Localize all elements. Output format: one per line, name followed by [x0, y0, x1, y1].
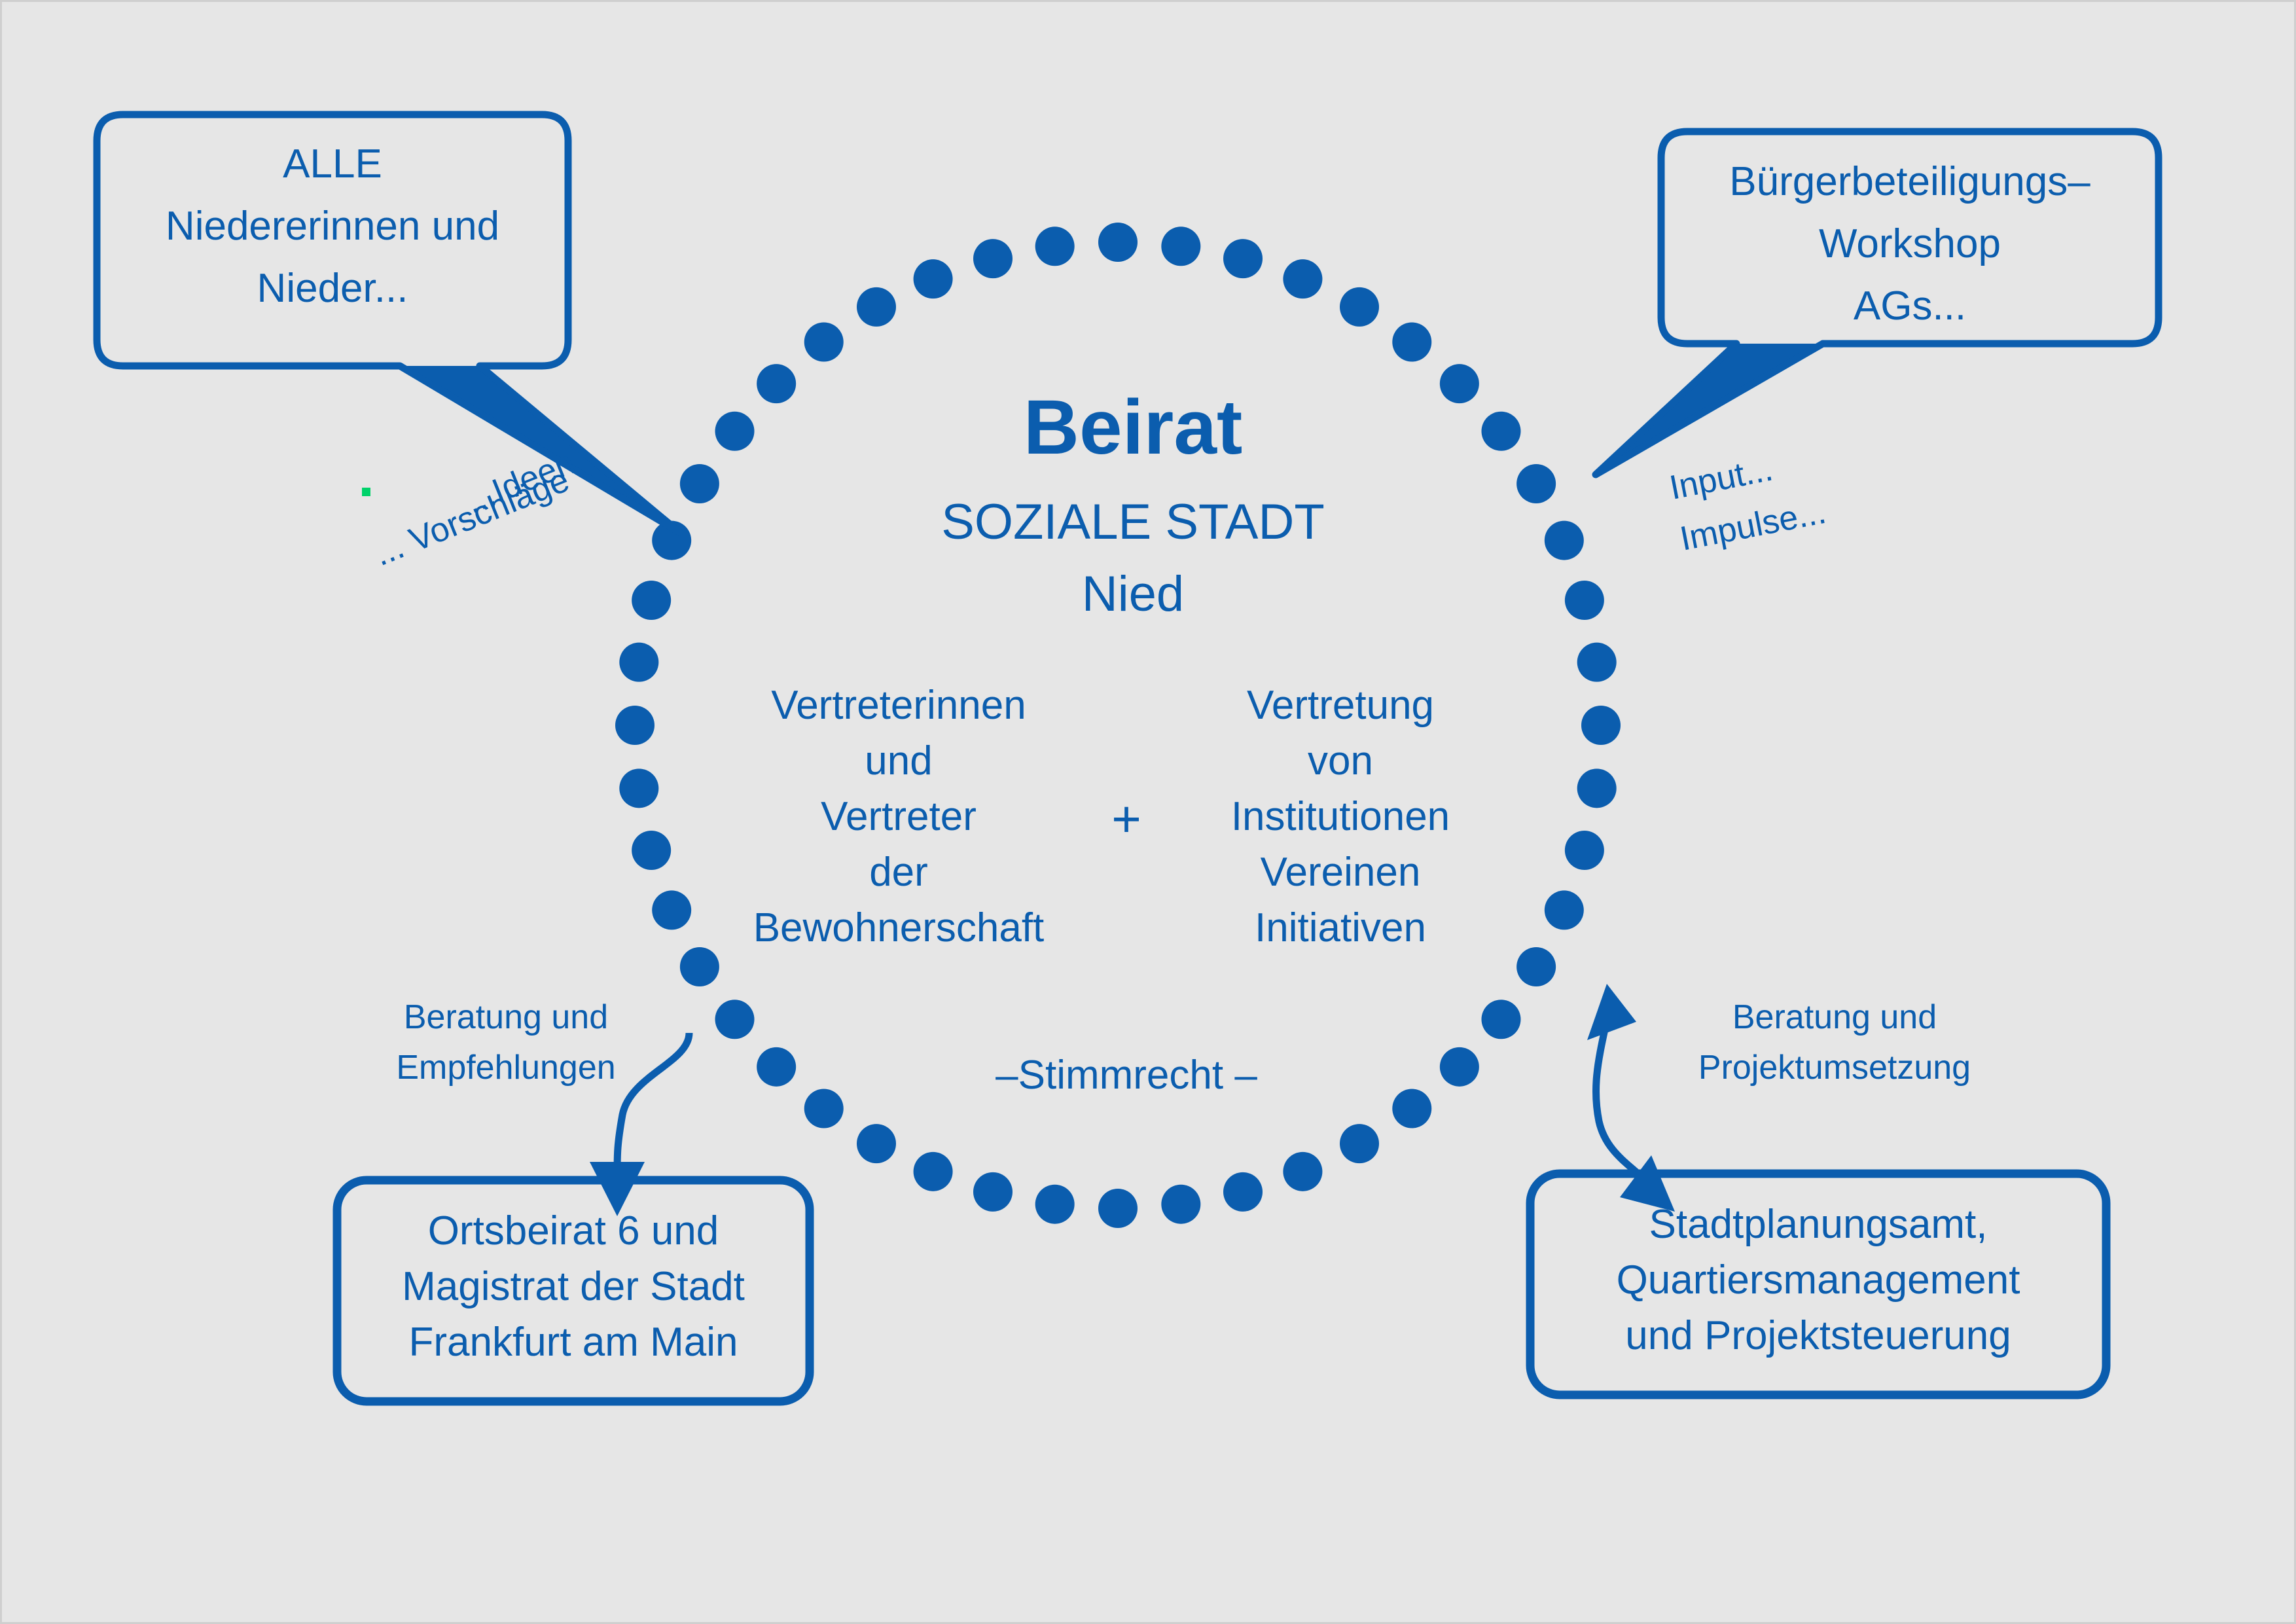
- ring-dot: [973, 239, 1013, 278]
- target-bottom-right-line-0: Stadtplanungsamt,: [1649, 1202, 1987, 1247]
- ring-dot: [1098, 1189, 1138, 1228]
- ring-dot: [1481, 412, 1520, 451]
- ring-dot: [1223, 239, 1263, 278]
- ring-dot: [1577, 643, 1617, 682]
- ring-dot: [1545, 890, 1584, 929]
- ring-dot: [1035, 1185, 1075, 1224]
- right-column-group: Vertretung von Institutionen Vereinen In…: [1231, 683, 1450, 950]
- ring-dot: [619, 768, 658, 808]
- ring-dot: [1098, 223, 1138, 262]
- ring-dot: [857, 1124, 896, 1163]
- ring-dot: [1392, 1089, 1431, 1128]
- right-inflow-annotation: Input... Impulse...: [1666, 450, 1829, 558]
- bubble-top-left[interactable]: ALLE Niedererinnen und Nieder...: [97, 115, 679, 532]
- ring-dot: [1440, 1047, 1479, 1087]
- ring-dot: [1565, 581, 1604, 620]
- ring-dot: [1392, 323, 1431, 362]
- ring-dot: [1283, 259, 1322, 298]
- ring-dot: [757, 364, 796, 403]
- right-outflow-arrow-head-up: [1587, 984, 1636, 1040]
- ring-dot: [1481, 1000, 1520, 1039]
- target-bottom-right-line-2: und Projektsteuerung: [1625, 1313, 2011, 1358]
- ring-dot: [1516, 947, 1556, 986]
- right-column-line-4: Initiativen: [1255, 905, 1426, 950]
- ring-dot: [1577, 768, 1617, 808]
- ring-dot: [1440, 364, 1479, 403]
- ring-dot: [1283, 1152, 1322, 1191]
- target-bottom-left-line-1: Magistrat der Stadt: [402, 1264, 745, 1309]
- left-column-line-0: Vertreterinnen: [771, 683, 1026, 728]
- ring-dot: [857, 287, 896, 327]
- right-column-line-0: Vertretung: [1247, 683, 1434, 728]
- left-column-line-3: der: [869, 850, 928, 895]
- bubble-top-left-line-2: Nieder...: [257, 266, 408, 311]
- bubble-top-right-line-1: Workshop: [1819, 221, 2001, 266]
- right-inflow-line-0: Input...: [1666, 450, 1776, 507]
- ring-dot: [1340, 1124, 1379, 1163]
- left-column-line-4: Bewohnerschaft: [753, 905, 1045, 950]
- ring-dot: [1565, 831, 1604, 870]
- ring-dot: [1223, 1172, 1263, 1212]
- ring-dot: [757, 1047, 796, 1087]
- green-marker-dot: [362, 488, 370, 496]
- ring-dot: [1581, 706, 1621, 745]
- ring-dot: [804, 1089, 844, 1128]
- ring-dot: [1035, 226, 1075, 266]
- target-bottom-left-line-0: Ortsbeirat 6 und: [428, 1208, 719, 1254]
- center-title: Beirat: [1024, 384, 1242, 471]
- left-column-line-2: Vertreter: [821, 794, 977, 839]
- ring-dot: [1545, 521, 1584, 560]
- ring-dot: [1516, 464, 1556, 503]
- center-subtitle-line2: Nied: [1082, 566, 1184, 622]
- ring-dot: [652, 890, 691, 929]
- left-column-group: Vertreterinnen und Vertreter der Bewohne…: [753, 683, 1045, 950]
- target-bottom-right-line-1: Quartiersmanagement: [1617, 1257, 2020, 1303]
- left-outflow-line-0: Beratung und: [404, 998, 608, 1036]
- target-bottom-left[interactable]: Ortsbeirat 6 und Magistrat der Stadt Fra…: [337, 1180, 810, 1401]
- right-outflow-line-0: Beratung und: [1732, 998, 1937, 1036]
- ring-dot: [715, 1000, 755, 1039]
- right-outflow-line-1: Projektumsetzung: [1698, 1049, 1971, 1087]
- ring-dot: [615, 706, 655, 745]
- left-inflow-line-1: ... Vorschläge: [369, 461, 575, 573]
- target-bottom-right[interactable]: Stadtplanungsamt, Quartiersmanagement un…: [1530, 1174, 2106, 1395]
- ring-dot: [632, 581, 671, 620]
- ring-dot: [914, 259, 953, 298]
- left-outflow-line-1: Empfehlungen: [396, 1049, 615, 1087]
- right-column-line-2: Institutionen: [1231, 794, 1450, 839]
- left-inflow-annotation: ...Ideen ... Vorschläge: [362, 443, 580, 573]
- ring-dot: [804, 323, 844, 362]
- ring-dot: [1161, 1185, 1200, 1224]
- plus-connector: +: [1111, 790, 1141, 848]
- ring-dot: [1340, 287, 1379, 327]
- ring-dot: [632, 831, 671, 870]
- ring-dot: [715, 412, 755, 451]
- diagram-canvas: Beirat SOZIALE STADT Nied Vertreterinnen…: [0, 0, 2296, 1624]
- bubble-top-right-line-2: AGs...: [1854, 283, 1966, 329]
- bubble-top-left-line-1: Niedererinnen und: [166, 204, 499, 249]
- ring-dot: [973, 1172, 1013, 1212]
- target-bottom-left-line-2: Frankfurt am Main: [408, 1320, 738, 1365]
- bubble-top-left-line-0: ALLE: [283, 141, 382, 187]
- center-subtitle-line1: SOZIALE STADT: [941, 494, 1325, 550]
- right-column-line-1: von: [1308, 738, 1373, 784]
- left-outflow-arrow-shaft: [617, 1033, 689, 1174]
- ring-dot: [680, 464, 719, 503]
- stimmrecht-note: –Stimmrecht –: [996, 1053, 1257, 1098]
- ring-dot: [1161, 226, 1200, 266]
- right-inflow-line-1: Impulse...: [1677, 493, 1829, 558]
- ring-dot: [619, 643, 658, 682]
- ring-dot: [680, 947, 719, 986]
- bubble-top-right-line-0: Bürgerbeteiligungs–: [1729, 159, 2090, 204]
- right-column-line-3: Vereinen: [1261, 850, 1421, 895]
- beirat-diagram: Beirat SOZIALE STADT Nied Vertreterinnen…: [2, 2, 2296, 1624]
- bubble-top-right[interactable]: Bürgerbeteiligungs– Workshop AGs...: [1596, 132, 2159, 475]
- ring-dot: [914, 1152, 953, 1191]
- left-column-line-1: und: [865, 738, 932, 784]
- right-outflow-arrow-shaft: [1596, 1026, 1641, 1177]
